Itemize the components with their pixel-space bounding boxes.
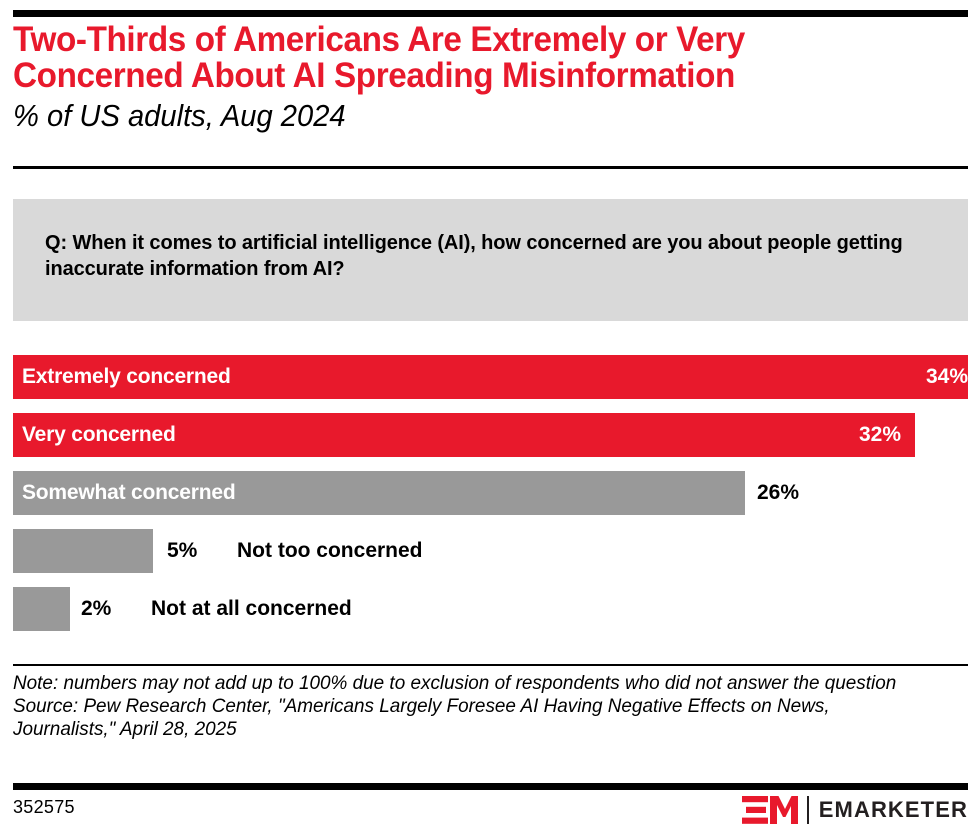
bar-row: Extremely concerned 34%	[13, 355, 980, 399]
bar-value: 5%	[167, 539, 197, 563]
logo-wordmark: EMARKETER	[819, 799, 968, 821]
bar-label: Very concerned	[22, 423, 176, 447]
bar-row: Somewhat concerned 26%	[13, 471, 980, 515]
bar-value: 26%	[757, 481, 799, 505]
title-separator-rule	[13, 166, 968, 169]
bar-label: Somewhat concerned	[22, 481, 235, 505]
top-rule	[13, 10, 968, 17]
chart-id: 352575	[13, 797, 75, 818]
note-separator-rule	[13, 664, 968, 666]
bar-label: Extremely concerned	[22, 365, 231, 389]
page-subtitle: % of US adults, Aug 2024	[13, 99, 897, 133]
footnotes: Note: numbers may not add up to 100% due…	[13, 672, 935, 741]
infographic-page: Two-Thirds of Americans Are Extremely or…	[0, 0, 980, 838]
question-box: Q: When it comes to artificial intellige…	[13, 199, 968, 321]
bar-not-too-concerned	[13, 529, 153, 573]
bar-label: Not at all concerned	[151, 597, 352, 621]
bar-row: 5% Not too concerned	[13, 529, 980, 573]
bottom-rule	[13, 783, 968, 790]
title-block: Two-Thirds of Americans Are Extremely or…	[13, 22, 953, 133]
bar-chart: Extremely concerned 34% Very concerned 3…	[0, 355, 980, 655]
em-monogram-icon	[742, 795, 798, 825]
note-text: Note: numbers may not add up to 100% due…	[13, 672, 935, 695]
bar-not-at-all-concerned	[13, 587, 70, 631]
bar-value: 34%	[926, 365, 968, 389]
bar-row: Very concerned 32%	[13, 413, 980, 457]
logo-divider	[807, 796, 809, 824]
bar-value: 2%	[81, 597, 111, 621]
survey-question: Q: When it comes to artificial intellige…	[45, 230, 935, 282]
page-title: Two-Thirds of Americans Are Extremely or…	[13, 22, 906, 94]
bar-label: Not too concerned	[237, 539, 423, 563]
emarketer-logo[interactable]: EMARKETER	[742, 795, 968, 825]
source-text: Source: Pew Research Center, "Americans …	[13, 695, 935, 741]
bar-value: 32%	[859, 423, 901, 447]
bar-row: 2% Not at all concerned	[13, 587, 980, 631]
